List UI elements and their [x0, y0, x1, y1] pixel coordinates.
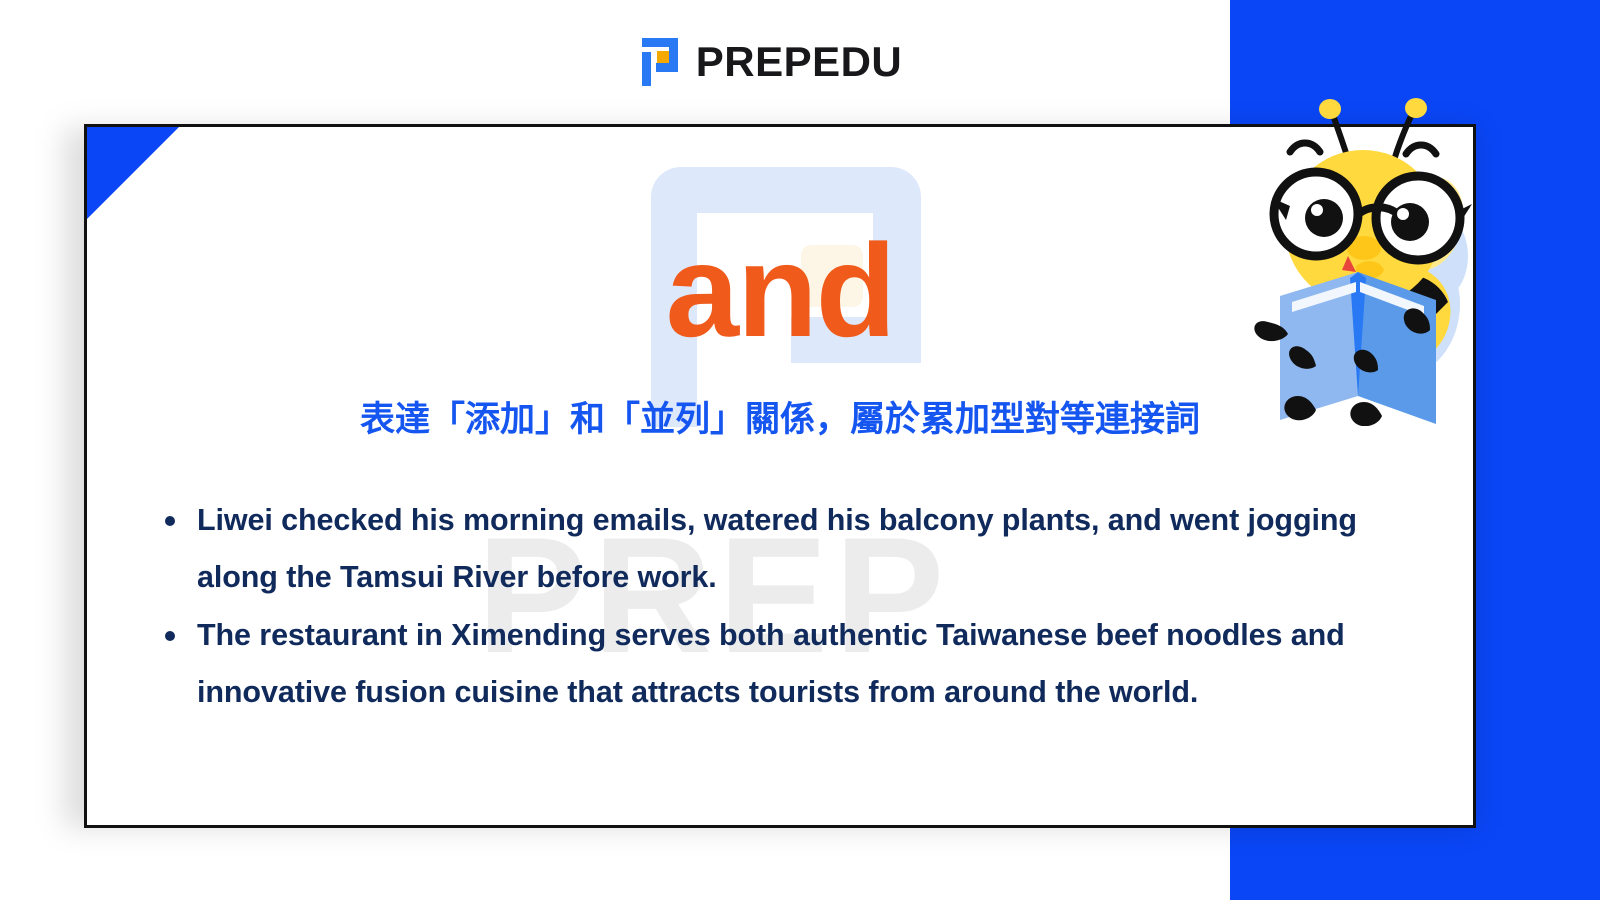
page-title: and: [87, 225, 1473, 357]
example-list: Liwei checked his morning emails, watere…: [153, 492, 1443, 721]
list-item: Liwei checked his morning emails, watere…: [153, 492, 1443, 607]
list-item: The restaurant in Ximending serves both …: [153, 607, 1443, 722]
corner-accent-triangle: [87, 127, 179, 219]
subtitle-definition: 表達「添加」和「並列」關係，屬於累加型對等連接詞: [87, 397, 1473, 443]
prepedu-logo-icon: [628, 36, 680, 88]
background-blue-right-strip: [1520, 0, 1600, 900]
brand-name: PREPEDU: [696, 41, 903, 83]
brand-header: PREPEDU: [0, 36, 1530, 88]
lesson-card: PREP and 表達「添加」和「並列」關係，屬於累加型對等連接詞 Liwei …: [84, 124, 1476, 828]
slide-canvas: PREPEDU PREP and 表達「添加」和「並列」關係，屬於累加型對等連接…: [0, 0, 1600, 900]
